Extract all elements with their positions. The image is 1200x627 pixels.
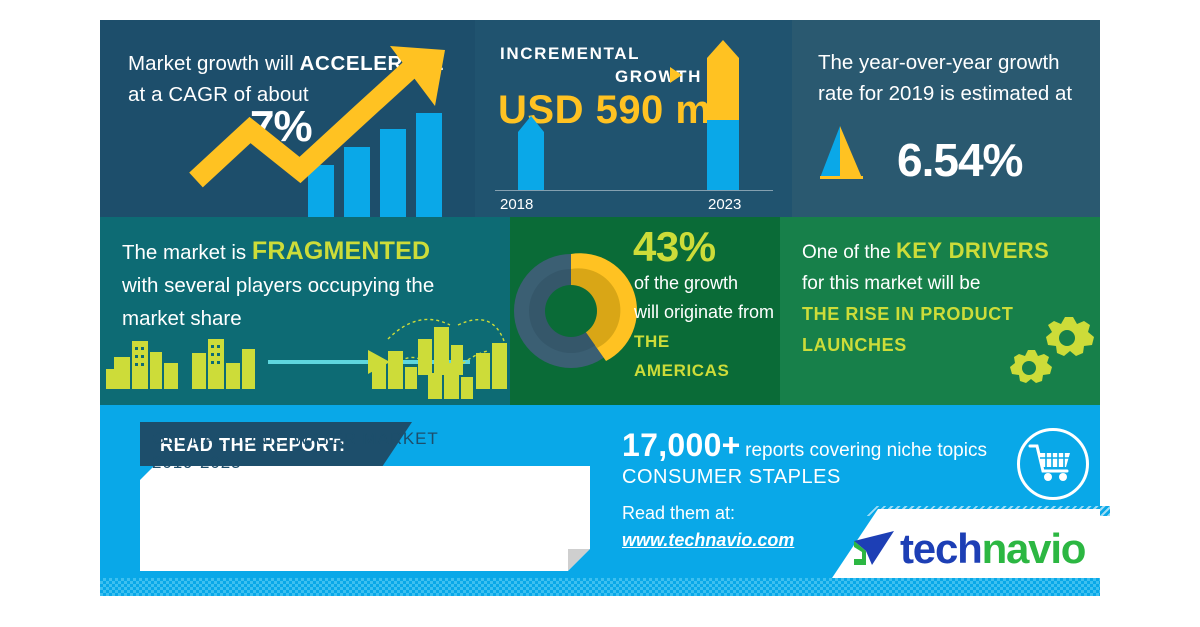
report-card[interactable] [140, 466, 590, 571]
city-cluster-right [372, 327, 507, 399]
cagr-bar-1 [308, 165, 334, 217]
logo-text-tech: tech [900, 525, 982, 572]
cagr-chart-graphic [100, 20, 475, 217]
incremental-bar-2018 [518, 116, 544, 190]
city-cluster-left [106, 339, 255, 389]
incremental-bar-2023-bottom [707, 120, 739, 190]
footer-hatch-strip [100, 578, 1100, 596]
row-two: The market is FRAGMENTED with several pl… [100, 217, 1100, 405]
row-one: Market growth will ACCELERATE at a CAGR … [100, 20, 1100, 217]
panel-fragmented-market: The market is FRAGMENTED with several pl… [100, 217, 510, 405]
logo-text-navio: navio [982, 525, 1086, 572]
incremental-year-start: 2018 [500, 196, 533, 213]
incremental-bars-graphic [475, 20, 792, 217]
infographic-canvas: Market growth will ACCELERATE at a CAGR … [0, 0, 1200, 627]
shopping-cart-circle[interactable] [1017, 428, 1089, 500]
gears-icon [780, 217, 1100, 405]
reports-count: 17,000+ [622, 427, 741, 463]
progress-line-left [268, 360, 368, 364]
report-category: CONSUMER STAPLES [622, 466, 1042, 489]
panel-key-drivers: One of the KEY DRIVERS for this market w… [780, 217, 1100, 405]
cart-icon [1020, 431, 1080, 491]
report-title-line1: GLOBAL TONIC WATER MARKET [152, 429, 439, 448]
incremental-year-end: 2023 [708, 196, 741, 213]
panel-cagr: Market growth will ACCELERATE at a CAGR … [100, 20, 475, 217]
incremental-bar-2023-top [707, 40, 739, 120]
yoy-value: 6.54% [897, 133, 1022, 187]
card-fold-corner [568, 549, 590, 571]
panel-yoy-growth: The year-over-year growth rate for 2019 … [792, 20, 1100, 217]
technavio-logo: technavio [848, 525, 1085, 573]
gear-large-hole [1059, 330, 1075, 346]
triangle-baseline [820, 176, 863, 179]
incremental-axis-line [495, 190, 773, 191]
yoy-triangle-icon [792, 20, 1100, 217]
donut-line1: of the growth [634, 273, 738, 293]
donut-hole [545, 285, 597, 337]
donut-line2: will originate from [634, 302, 774, 322]
report-title: GLOBAL TONIC WATER MARKET 2019-2023 [152, 427, 562, 475]
cagr-bar-4 [416, 113, 442, 217]
fragmentation-graphic [100, 217, 510, 405]
technavio-mark-icon [848, 525, 900, 571]
donut-description: of the growth will originate from THE AM… [634, 269, 780, 385]
donut-percent-label: 43% [633, 223, 716, 271]
report-title-line2: 2019-2023 [152, 453, 241, 472]
triangle-left-half [820, 126, 840, 178]
gear-small-hole [1022, 361, 1036, 375]
cagr-bar-2 [344, 147, 370, 217]
panel-growth-origin: 43% of the growth will originate from TH… [510, 217, 780, 405]
reports-suffix: reports covering niche topics [745, 440, 987, 461]
cagr-bar-3 [380, 129, 406, 217]
donut-highlight-2: AMERICAS [634, 356, 780, 385]
triangle-right-half [840, 126, 862, 178]
panel-incremental-growth: INCREMENTAL GROWTH USD 590 mn 2018 2023 [475, 20, 792, 217]
donut-highlight-1: THE [634, 327, 780, 356]
